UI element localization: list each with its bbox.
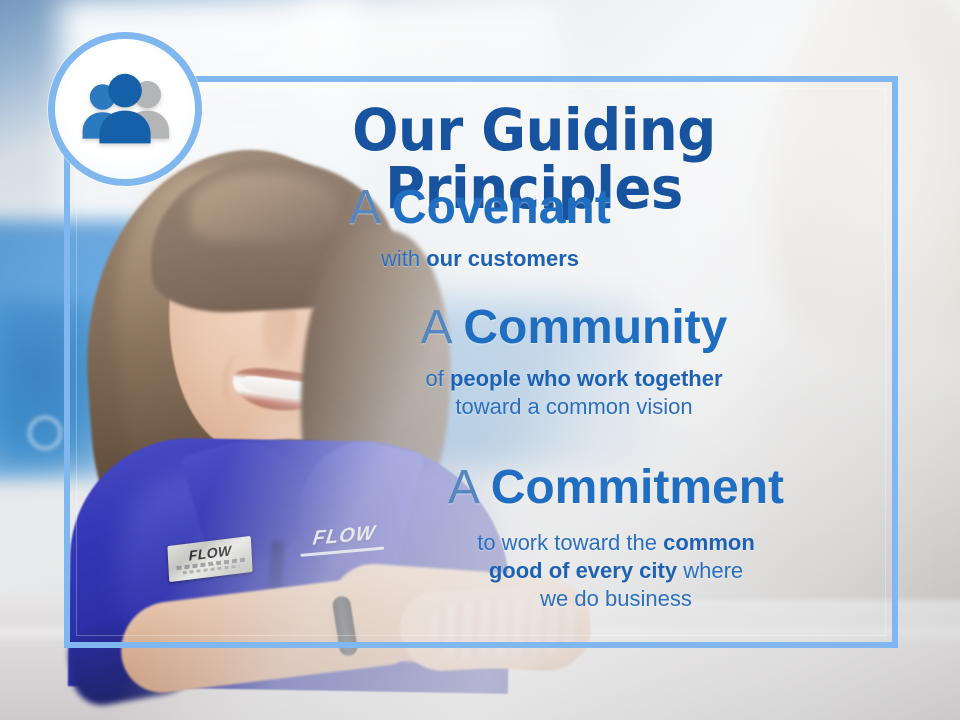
subtext-emphasis: good of every city [489,558,677,583]
principle-covenant-subtext: with our customers [260,245,700,273]
principle-article: A [448,461,477,514]
principle-subtext-line: toward a common vision [318,393,830,421]
principle-commitment-subtext: to work toward the commongood of every c… [364,529,868,613]
principle-community: A Community of people who work togethert… [318,304,830,421]
subtext-plain: we do business [540,586,692,611]
subtext-emphasis: people who work together [450,366,723,391]
principle-covenant: A Covenant with our customers [260,184,700,273]
vehicle-emblem-icon [28,416,62,450]
principle-subtext-line: of people who work together [318,365,830,393]
subtext-emphasis: common [663,530,755,555]
subtext-emphasis: our customers [426,246,579,271]
principle-commitment: A Commitment to work toward the commongo… [364,464,868,613]
principle-subtext-line: we do business [364,585,868,613]
principle-covenant-heading: A Covenant [260,184,700,233]
principle-keyword: Community [463,301,727,354]
principle-keyword: Covenant [392,181,611,234]
subtext-plain: of [425,366,449,391]
principle-subtext-line: with our customers [260,245,700,273]
subtext-plain: to work toward the [477,530,663,555]
poster-canvas: FLOW FLOW [0,0,960,720]
subtext-plain: toward a common vision [455,394,692,419]
poster-content: Our Guiding Principles A Covenant with o… [64,76,898,648]
principle-subtext-line: to work toward the common [364,529,868,557]
subtext-plain: with [381,246,426,271]
principle-keyword: Commitment [491,461,784,514]
principle-community-heading: A Community [318,304,830,353]
principle-article: A [349,181,378,234]
principle-subtext-line: good of every city where [364,557,868,585]
principle-article: A [421,301,450,354]
subtext-plain: where [677,558,743,583]
principle-commitment-heading: A Commitment [364,464,868,513]
principle-community-subtext: of people who work togethertoward a comm… [318,365,830,421]
